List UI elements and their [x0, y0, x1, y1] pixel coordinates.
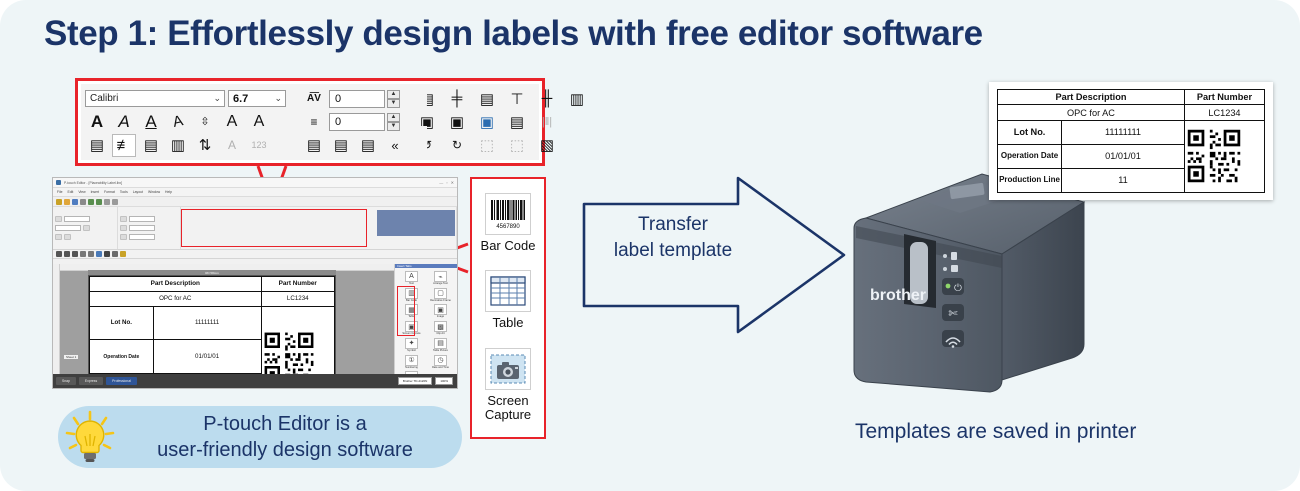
status-zoom-value[interactable]: 100% [435, 377, 453, 385]
cell-label-operation-date: Operation Date [90, 340, 154, 374]
qr-code-icon [1185, 127, 1243, 185]
cell-value-operation-date: 01/01/01 [1062, 144, 1185, 168]
font-size-value: 6.7 [233, 93, 248, 105]
side-panel-label: Numbering [405, 367, 418, 370]
redo-icon[interactable] [96, 199, 102, 205]
rect-tool-icon[interactable] [80, 251, 86, 257]
sidebar-item-symbol[interactable]: ✦ Symbol [398, 338, 425, 353]
printer-caption: Templates are saved in printer [855, 420, 1136, 444]
menu-item-file[interactable]: File [57, 190, 62, 194]
status-printer-select[interactable]: Brother TD-2120N [398, 377, 432, 385]
auto-format-icon[interactable]: A [220, 134, 244, 157]
editor-caption-pill: P-touch Editor is a user-friendly design… [58, 406, 462, 468]
cell-value-production-line: 11 [1062, 168, 1185, 192]
col-header-part-number: Part Number [1184, 90, 1264, 105]
rotate-a-icon[interactable]: A [164, 108, 192, 135]
lightbulb-icon [58, 406, 122, 468]
align-left-icon[interactable]: ▤ [85, 134, 109, 157]
transfer-arrow-text: Transfer label template [598, 212, 748, 263]
valign-middle-icon[interactable]: ▤ [329, 134, 353, 157]
side-panel-label: Table Picture [433, 350, 448, 353]
group-objects-icon[interactable]: ⬚ [475, 134, 499, 157]
menu-item-window[interactable]: Window [148, 190, 160, 194]
barcode-icon: 4567890 [485, 193, 531, 235]
save-icon[interactable] [72, 199, 78, 205]
printer-select[interactable] [64, 216, 90, 222]
menu-item-edit[interactable]: Edit [67, 190, 73, 194]
image-crop-icon[interactable]: ▣ [445, 110, 469, 133]
sidebar-item-decorative-frame[interactable]: ▢ Decorative Frame [427, 288, 454, 303]
ptouch-editor-window: P-touch Editor - [Placeability Label.lbx… [52, 177, 458, 389]
editor-body: RD 58mm Part Description Part Number OPC… [53, 264, 457, 374]
qr-code-cell [1184, 120, 1264, 192]
arrow-line-2: label template [598, 238, 748, 264]
frame-icon: ▢ [434, 288, 447, 299]
col-header-part-description: Part Description [90, 277, 262, 292]
table-picture-icon: ▤ [434, 338, 447, 349]
image-tool-icon[interactable] [96, 251, 102, 257]
line-style-icon[interactable]: ▤ [505, 110, 529, 133]
sidebar-item-table-picture[interactable]: ▤ Table Picture [427, 338, 454, 353]
callout-label-screen-capture: Screen Capture [472, 394, 544, 423]
layout-icon [120, 216, 127, 222]
toolbar-arrange-group: ▤ ╪ ▤ ⊤ ╫ ▥ ▣ ▣ ▣ ▤ |‖| ↺ ↻ ⬚ [411, 84, 593, 160]
menu-item-help[interactable]: Help [165, 190, 172, 194]
new-icon[interactable] [56, 199, 62, 205]
side-panel-highlight-box [397, 286, 415, 336]
table-row: Lot No. 11111111 [90, 306, 335, 340]
align-right-icon[interactable]: ▤ [139, 134, 163, 157]
cell-part-description-value: OPC for AC [90, 291, 262, 306]
open-icon[interactable] [64, 199, 70, 205]
cell-label-lot-no: Lot No. [90, 306, 154, 340]
maximize-icon[interactable]: ▫ [446, 180, 447, 185]
table-row: OPC for AC LC1234 [90, 291, 335, 306]
app-icon [56, 180, 61, 185]
align-objects-right-icon[interactable]: ▤ [475, 87, 499, 110]
editor-ribbon [53, 207, 457, 250]
align-objects-middle-icon[interactable]: ╫ [535, 87, 559, 110]
cell-part-description-value: OPC for AC [998, 105, 1185, 120]
text-icon: A [405, 271, 418, 282]
editor-status-bar: Snap Express Professional Brother TD-212… [53, 374, 457, 388]
vertical-ruler [53, 264, 60, 374]
valign-top-icon[interactable]: ▤ [302, 134, 326, 157]
height-input[interactable] [129, 234, 155, 240]
power-button-icon[interactable]: ⏻ [954, 283, 962, 294]
callout-item-bar-code[interactable]: 4567890 Bar Code [481, 193, 536, 254]
side-panel-label: Date and Time [432, 367, 449, 370]
fill-tool-icon[interactable] [120, 251, 126, 257]
sidebar-item-image[interactable]: ▣ Image [427, 304, 454, 319]
table-row: OPC for AC LC1234 [998, 105, 1265, 120]
line-tool-icon[interactable] [72, 251, 78, 257]
menu-item-view[interactable]: View [78, 190, 85, 194]
editor-quick-toolbar [53, 197, 457, 207]
printer-icon [55, 216, 62, 222]
select-tool-icon[interactable] [56, 251, 62, 257]
editor-canvas-area: RD 58mm Part Description Part Number OPC… [60, 264, 394, 374]
side-panel-label: Arrange Text [433, 283, 448, 286]
infographic-canvas: Step 1: Effortlessly design labels with … [0, 0, 1300, 491]
table-row: Lot No. 11111111 [998, 120, 1265, 144]
printed-label-table: Part Description Part Number OPC for AC … [997, 89, 1265, 193]
grow-font-icon[interactable]: A [220, 110, 244, 133]
brother-logo: brother [870, 287, 926, 304]
image-icon: ▣ [434, 304, 447, 315]
numbering-icon: ① [405, 355, 418, 366]
editor-side-panel: Insert Tabs A Text ⌁ Arrange Text ▥ Bar … [394, 264, 457, 374]
cell-part-number-value: LC1234 [261, 291, 335, 306]
font-name-value: Calibri [90, 93, 118, 104]
ellipse-tool-icon[interactable] [88, 251, 94, 257]
menu-item-insert[interactable]: Insert [91, 190, 99, 194]
font-size-select[interactable]: 6.7 ⌄ [228, 90, 286, 107]
cell-label-operation-date: Operation Date [998, 144, 1062, 168]
tab-express[interactable]: Express [79, 377, 103, 385]
callout-item-screen-capture[interactable]: Screen Capture [472, 348, 544, 423]
toolbar-callout: Calibri ⌄ 6.7 ⌄ A A A A ⇳ A A [75, 78, 545, 166]
stepper-down-icon[interactable]: ▼ [387, 122, 400, 131]
sidebar-item-numbering[interactable]: ① Numbering [398, 355, 425, 370]
cut-button-icon[interactable]: ✄ [948, 308, 958, 320]
vertical-text-icon[interactable]: ⇅ [193, 134, 217, 157]
sidebar-item-date-and-time[interactable]: ◷ Date and Time [427, 355, 454, 370]
sidebar-item-clip-art[interactable]: ▩ Clip Art [427, 321, 454, 336]
tab-snap[interactable]: Snap [56, 377, 76, 385]
side-panel-label: Image [437, 316, 444, 319]
menu-item-tools[interactable]: Tools [120, 190, 128, 194]
line-spacing-input[interactable]: 0 [329, 113, 385, 131]
line-spacing-icon: ≡ [302, 110, 326, 133]
line-spacing-stepper[interactable]: ▲ ▼ [387, 113, 400, 131]
editor-window-title: P-touch Editor - [Placeability Label.lbx… [64, 181, 122, 185]
table-row: Part Description Part Number [90, 277, 335, 292]
pill-line-1: P-touch Editor is a [122, 411, 448, 437]
col-header-part-description: Part Description [998, 90, 1185, 105]
side-panel-label: Symbol [407, 350, 416, 353]
fit-text-icon[interactable]: ⇳ [193, 110, 217, 133]
print-icon[interactable] [80, 199, 86, 205]
pill-line-2: user-friendly design software [122, 437, 448, 463]
printed-label: Part Description Part Number OPC for AC … [989, 82, 1273, 200]
cell-value-lot-no: 11111111 [153, 306, 261, 340]
arrange-text-icon: ⌁ [434, 271, 447, 282]
bold-a-icon[interactable]: A [85, 110, 109, 133]
sidebar-item-text[interactable]: A Text [398, 271, 425, 286]
cell-value-operation-date: 01/01/01 [153, 340, 261, 374]
side-panel-label: Clip Art [436, 333, 444, 336]
callout-item-table[interactable]: Table [485, 270, 531, 331]
chevron-down-icon: ⌄ [213, 93, 224, 104]
stepper-up-icon[interactable]: ▲ [387, 113, 400, 122]
align-objects-center-icon[interactable]: ╪ [445, 87, 469, 110]
clip-art-icon: ▩ [434, 321, 447, 332]
date-time-icon: ◷ [434, 355, 447, 366]
text-tool-icon[interactable] [64, 251, 70, 257]
character-spacing-icon: A͞V [302, 87, 326, 110]
table-row: Part Description Part Number [998, 90, 1265, 105]
cut-icon[interactable] [104, 199, 110, 205]
tab-professional[interactable]: Professional [106, 377, 137, 385]
editor-title-bar: P-touch Editor - [Placeability Label.lbx… [53, 178, 457, 188]
stepper-down-icon[interactable]: ▼ [387, 99, 400, 108]
editor-menu-bar: File Edit View Insert Format Tools Layou… [53, 188, 457, 197]
layout-select[interactable] [129, 216, 155, 222]
copy-icon[interactable] [112, 199, 118, 205]
cell-label-production-line: Production Line [998, 168, 1062, 192]
shrink-font-icon[interactable]: A [247, 110, 271, 133]
ribbon-group-layout [118, 207, 181, 249]
chevron-down-icon: ⌄ [274, 93, 285, 104]
number-format-icon[interactable]: 123 [247, 134, 271, 157]
symbol-icon: ✦ [405, 338, 418, 349]
minimize-icon[interactable]: — [439, 180, 443, 185]
preview-icon[interactable] [64, 234, 71, 240]
label-printer: brother ⏻ ✄ [832, 168, 1098, 408]
distribute-horizontal-icon[interactable]: |‖| [535, 110, 559, 133]
align-justify-icon[interactable]: ▥ [166, 134, 190, 157]
menu-item-layout[interactable]: Layout [133, 190, 143, 194]
valign-bottom-icon[interactable]: ▤ [356, 134, 380, 157]
ungroup-objects-icon[interactable]: ⬚ [505, 134, 529, 157]
align-objects-bottom-icon[interactable]: ▥ [565, 87, 589, 110]
close-icon[interactable]: ✕ [451, 180, 454, 185]
stepper-up-icon[interactable]: ▲ [387, 90, 400, 99]
underline-a-icon[interactable]: A [139, 110, 163, 133]
sidebar-item-arrange-text[interactable]: ⌁ Arrange Text [427, 271, 454, 286]
media-select[interactable] [55, 225, 81, 231]
menu-item-format[interactable]: Format [104, 190, 115, 194]
width-input[interactable] [129, 225, 155, 231]
media-icon [83, 225, 90, 231]
screen-capture-icon [485, 348, 531, 390]
insert-tools-callout: 4567890 Bar Code Table [470, 177, 546, 439]
label-canvas[interactable]: Part Description Part Number OPC for AC … [88, 275, 336, 389]
fill-color-icon[interactable]: ▣ [475, 110, 499, 133]
ribbon-highlight-box [181, 209, 367, 247]
align-center-icon[interactable]: ≢ [112, 134, 136, 157]
table-tool-icon[interactable] [112, 251, 118, 257]
window-controls[interactable]: — ▫ ✕ [439, 180, 457, 185]
height-icon [120, 234, 127, 240]
cell-value-lot-no: 11111111 [1062, 120, 1185, 144]
status-bar-right: Brother TD-2120N 100% [398, 377, 457, 385]
label-template-table: Part Description Part Number OPC for AC … [89, 276, 335, 389]
ribbon-preview-pane [377, 210, 455, 236]
bring-to-front-icon[interactable]: ▧ [535, 134, 559, 157]
rotate-right-icon[interactable]: ↻ [445, 134, 469, 157]
editor-caption-text: P-touch Editor is a user-friendly design… [122, 411, 462, 463]
col-header-part-number: Part Number [261, 277, 335, 292]
width-icon [120, 225, 127, 231]
toolbar-font-group: Calibri ⌄ 6.7 ⌄ A A A A ⇳ A A [81, 84, 290, 160]
barcode-digits: 4567890 [496, 224, 520, 230]
barcode-tool-icon[interactable] [104, 251, 110, 257]
orientation-icon[interactable] [55, 234, 62, 240]
toolbar-spacing-group: A͞V 0 ▲ ▼ ≡ 0 ▲ ▼ [298, 84, 411, 160]
character-spacing-input[interactable]: 0 [329, 90, 385, 108]
editor-drawing-toolbar [53, 250, 457, 259]
cell-part-number-value: LC1234 [1184, 105, 1264, 120]
sheet-tab[interactable]: Sheet 1 [64, 355, 78, 359]
italic-a-icon[interactable]: A [112, 110, 136, 133]
character-spacing-stepper[interactable]: ▲ ▼ [387, 90, 400, 108]
ribbon-group-printer [53, 207, 118, 249]
font-name-select[interactable]: Calibri ⌄ [85, 90, 225, 107]
cell-label-lot-no: Lot No. [998, 120, 1062, 144]
arrow-line-1: Transfer [598, 212, 748, 238]
callout-label-bar-code: Bar Code [481, 239, 536, 254]
side-panel-label: Decorative Frame [430, 300, 451, 303]
callout-label-table: Table [492, 316, 523, 331]
toolbar-overflow-button[interactable]: « [383, 134, 407, 157]
page-title: Step 1: Effortlessly design labels with … [44, 14, 983, 54]
undo-icon[interactable] [88, 199, 94, 205]
table-icon [485, 270, 531, 312]
align-objects-top-icon[interactable]: ⊤ [505, 87, 529, 110]
